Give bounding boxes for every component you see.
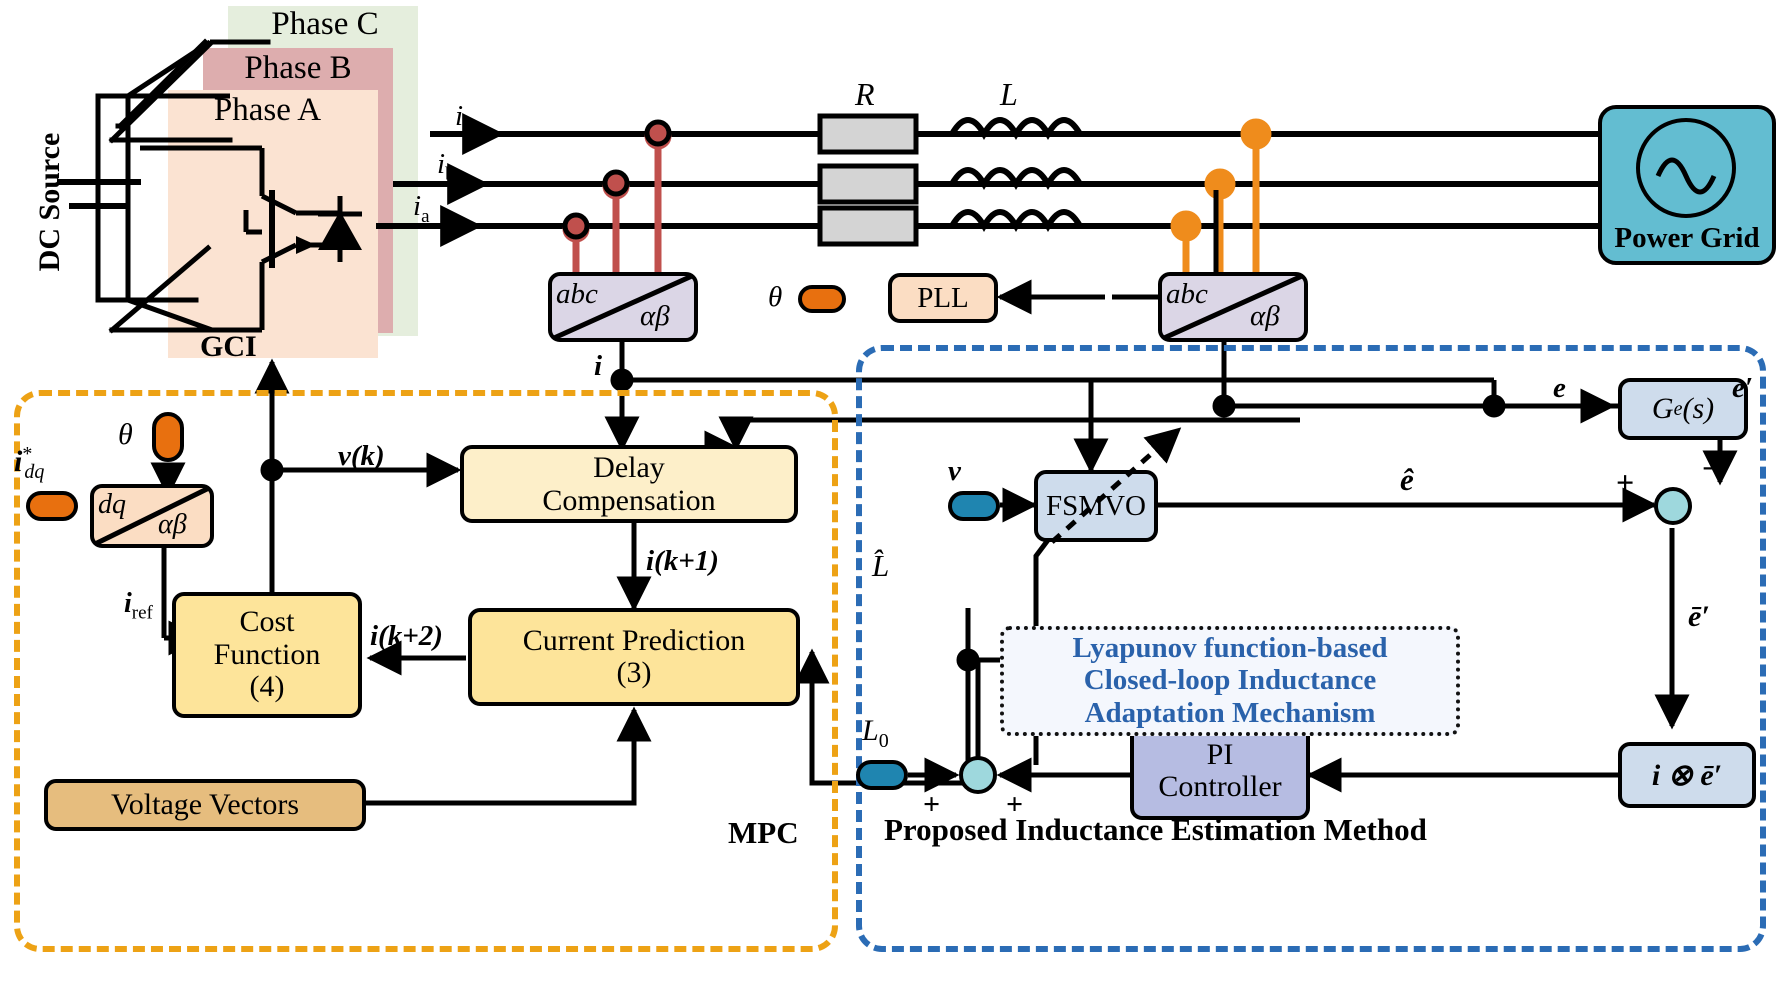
abc-alphabeta-left-bottom-label: αβ (640, 300, 670, 333)
theta-output-pill[interactable] (798, 285, 846, 313)
fsmvo-block[interactable]: FSMVO (1034, 470, 1158, 542)
power-grid-label: Power Grid (1598, 222, 1776, 255)
cross-product-block[interactable]: i ⊗ ē′ (1618, 742, 1756, 808)
cost-function-line2: Function (214, 639, 321, 671)
ge-transfer-block[interactable]: Ge(s) (1618, 378, 1748, 440)
current-ia-label: ia (413, 190, 430, 228)
current-ic-symbol: i (455, 100, 463, 132)
abc-alphabeta-right-top-label: abc (1166, 278, 1208, 311)
ge-subscript: e (1674, 398, 1683, 421)
resistor-label: R (855, 76, 875, 113)
inductor-label: L (1000, 76, 1018, 113)
l0-subscript: 0 (879, 730, 889, 752)
cost-function-block[interactable]: Cost Function (4) (172, 592, 362, 718)
theta-input-pill[interactable] (152, 412, 184, 462)
dq-alphabeta-top-label: dq (98, 489, 126, 521)
l0-label: L0 (862, 714, 889, 753)
comparator-minus-sign: − (1702, 450, 1720, 487)
l0-symbol: L (862, 714, 879, 747)
lyapunov-note-text: Lyapunov function-based Closed-loop Indu… (1000, 632, 1460, 729)
pi-controller-line2: Controller (1158, 771, 1281, 803)
iref-symbol: i (124, 588, 132, 619)
theta-pll-label: θ (768, 281, 782, 314)
abc-alphabeta-right-bottom-label: αβ (1250, 300, 1280, 333)
current-prediction-line2: (3) (617, 657, 652, 689)
iref-label: iref (124, 588, 153, 625)
ik1-label: i(k+1) (646, 545, 719, 578)
gci-label: GCI (200, 330, 257, 364)
inductance-sum-junction[interactable] (959, 756, 997, 794)
comparator-sum-junction[interactable] (1654, 487, 1692, 525)
cross-product-expression: i ⊗ ē′ (1652, 758, 1722, 793)
cost-function-line1: Cost (239, 606, 294, 638)
pi-controller-block[interactable]: PI Controller (1130, 722, 1310, 820)
ge-tail: (s) (1682, 392, 1714, 426)
idq-ref-subscript: dq (24, 461, 44, 483)
e-label: e (1553, 372, 1566, 405)
lyapunov-line3: Adaptation Mechanism (1000, 697, 1460, 729)
ik2-symbol: i(k+2) (370, 620, 443, 652)
pll-block[interactable]: PLL (888, 273, 998, 323)
vk-label: v(k) (338, 440, 385, 473)
current-prediction-block[interactable]: Current Prediction (3) (468, 608, 800, 706)
delay-compensation-line2: Compensation (542, 484, 715, 517)
v-input-pill[interactable] (948, 491, 1000, 521)
e-prime-label: e′ (1732, 372, 1753, 405)
e-hat-label: ê (1400, 462, 1414, 498)
current-ic-label: ic (455, 100, 472, 138)
pi-controller-line1: PI (1207, 739, 1234, 771)
comparator-plus-sign: + (1616, 464, 1634, 501)
sum-plus-left-sign: + (923, 788, 940, 822)
l-hat-label: L̂ (872, 548, 889, 584)
ik1-symbol: i(k+1) (646, 545, 719, 577)
e-bar-prime-label: ē′ (1688, 600, 1710, 634)
idq-ref-pill[interactable] (26, 491, 78, 521)
lyapunov-line2: Closed-loop Inductance (1000, 664, 1460, 696)
v-label: v (948, 455, 961, 488)
current-ib-label: ib (437, 148, 455, 186)
idq-ref-label: i*dq (14, 443, 44, 484)
current-ib-subscript: b (445, 164, 455, 185)
iref-subscript: ref (132, 603, 153, 624)
delay-compensation-line1: Delay (593, 451, 665, 484)
abc-alphabeta-left-top-label: abc (556, 278, 598, 311)
vk-symbol: v(k) (338, 440, 385, 472)
ik2-label: i(k+2) (370, 620, 443, 653)
theta-mpc-label: θ (118, 418, 133, 452)
current-ia-symbol: i (413, 190, 421, 222)
current-ib-symbol: i (437, 148, 445, 180)
cost-function-line3: (4) (250, 671, 285, 703)
voltage-vectors-block[interactable]: Voltage Vectors (44, 779, 366, 831)
current-ia-subscript: a (421, 206, 429, 227)
current-prediction-line1: Current Prediction (523, 625, 745, 657)
delay-compensation-block[interactable]: Delay Compensation (460, 445, 798, 523)
ge-symbol: G (1652, 392, 1674, 426)
diagram-canvas: Phase C Phase B Phase A (0, 0, 1779, 986)
sum-plus-right-sign: + (1006, 788, 1023, 822)
l0-pill[interactable] (856, 760, 908, 790)
dq-alphabeta-bottom-label: αβ (158, 509, 187, 541)
current-vector-i-label: i (594, 350, 602, 383)
current-ic-subscript: c (463, 116, 471, 137)
grid-sine-wave-icon (1636, 118, 1736, 218)
lyapunov-line1: Lyapunov function-based (1000, 632, 1460, 664)
mpc-region-label: MPC (728, 815, 799, 851)
dc-source-label: DC Source (33, 112, 67, 292)
